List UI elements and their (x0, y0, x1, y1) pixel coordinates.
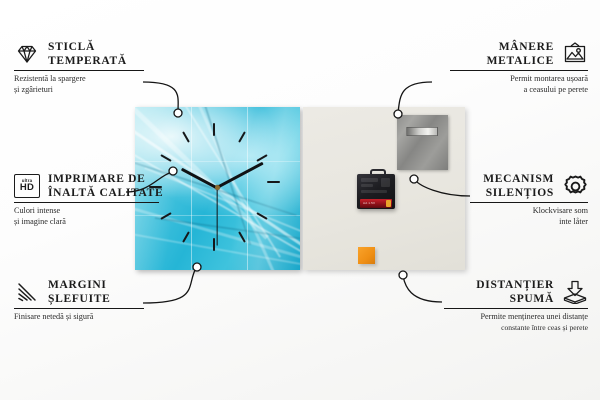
callout-subtitle-1: Permit montarea ușoară (450, 71, 588, 85)
polished-edges-icon (14, 279, 40, 305)
callout-subtitle-1: Rezistentă la spargere (14, 71, 144, 85)
callout-silent-mechanism: MECANISM SILENȚIOS Klockvisare som inte … (470, 172, 588, 227)
product-infographic: AA 1.5V (0, 0, 600, 400)
callout-tempered-glass: STICLĂ TEMPERATĂ Rezistentă la spargere … (14, 40, 144, 95)
battery: AA 1.5V (360, 199, 392, 208)
callout-header: MARGINI ȘLEFUITE (14, 278, 144, 306)
clock-second-hand (216, 187, 217, 245)
foam-spacer (358, 247, 375, 264)
metal-hanger-plate (397, 115, 448, 170)
callout-header: DISTANȚIER SPUMĂ (444, 278, 588, 306)
callout-title: MÂNERE METALICE (487, 40, 554, 68)
diamond-icon (14, 41, 40, 67)
callout-subtitle-1: Culori intense (14, 203, 159, 217)
leader-line-3 (143, 268, 196, 303)
callout-subtitle-2: și zgârieturi (14, 85, 144, 96)
mechanism-body: AA 1.5V (357, 174, 395, 209)
clock-tick (213, 123, 215, 136)
leader-line-6 (403, 276, 442, 302)
callout-title: MARGINI ȘLEFUITE (48, 278, 110, 306)
battery-positive-terminal (386, 200, 391, 207)
callout-metal-hangers: MÂNERE METALICE Permit montarea ușoară a… (450, 40, 588, 95)
callout-header: MÂNERE METALICE (450, 40, 588, 68)
callout-header: MECANISM SILENȚIOS (470, 172, 588, 200)
callout-subtitle-2: a ceasului pe perete (450, 85, 588, 96)
product-photo: AA 1.5V (135, 107, 465, 270)
clock-back-panel: AA 1.5V (303, 107, 465, 270)
hanger-slot (406, 127, 438, 136)
gear-icon (562, 173, 588, 199)
battery-label: AA 1.5V (363, 201, 375, 205)
leader-dot-6 (399, 271, 407, 279)
callout-header: STICLĂ TEMPERATĂ (14, 40, 144, 68)
callout-subtitle-1: Permite menținerea unei distanțe (444, 309, 588, 323)
callout-title: MECANISM SILENȚIOS (483, 172, 554, 200)
clock-tick (267, 181, 280, 183)
ultra-hd-icon-main-text: HD (20, 183, 34, 193)
callout-subtitle-2: inte låter (470, 217, 588, 228)
callout-title: DISTANȚIER SPUMĂ (476, 278, 554, 306)
picture-hanger-icon (562, 41, 588, 67)
clock-tick (213, 238, 215, 251)
callout-subtitle-1: Finisare netedă și sigură (14, 309, 144, 323)
callout-title: STICLĂ TEMPERATĂ (48, 40, 127, 68)
foam-spacer-icon (562, 279, 588, 305)
callout-subtitle-1: Klockvisare som (470, 203, 588, 217)
callout-title: IMPRIMARE DE ÎNALTĂ CALITATE (48, 172, 163, 200)
callout-subtitle-2: constante între ceas și perete (444, 323, 588, 333)
clock-mechanism: AA 1.5V (357, 169, 395, 209)
callout-subtitle-2: și imagine clară (14, 217, 159, 228)
callout-polished-edges: MARGINI ȘLEFUITE Finisare netedă și sigu… (14, 278, 144, 323)
clock-center-cap (215, 185, 220, 190)
ultra-hd-icon: ultra HD (14, 173, 40, 199)
callout-header: ultra HD IMPRIMARE DE ÎNALTĂ CALITATE (14, 172, 159, 200)
callout-high-quality-print: ultra HD IMPRIMARE DE ÎNALTĂ CALITATE Cu… (14, 172, 159, 227)
callout-foam-spacer: DISTANȚIER SPUMĂ Permite menținerea unei… (444, 278, 588, 333)
